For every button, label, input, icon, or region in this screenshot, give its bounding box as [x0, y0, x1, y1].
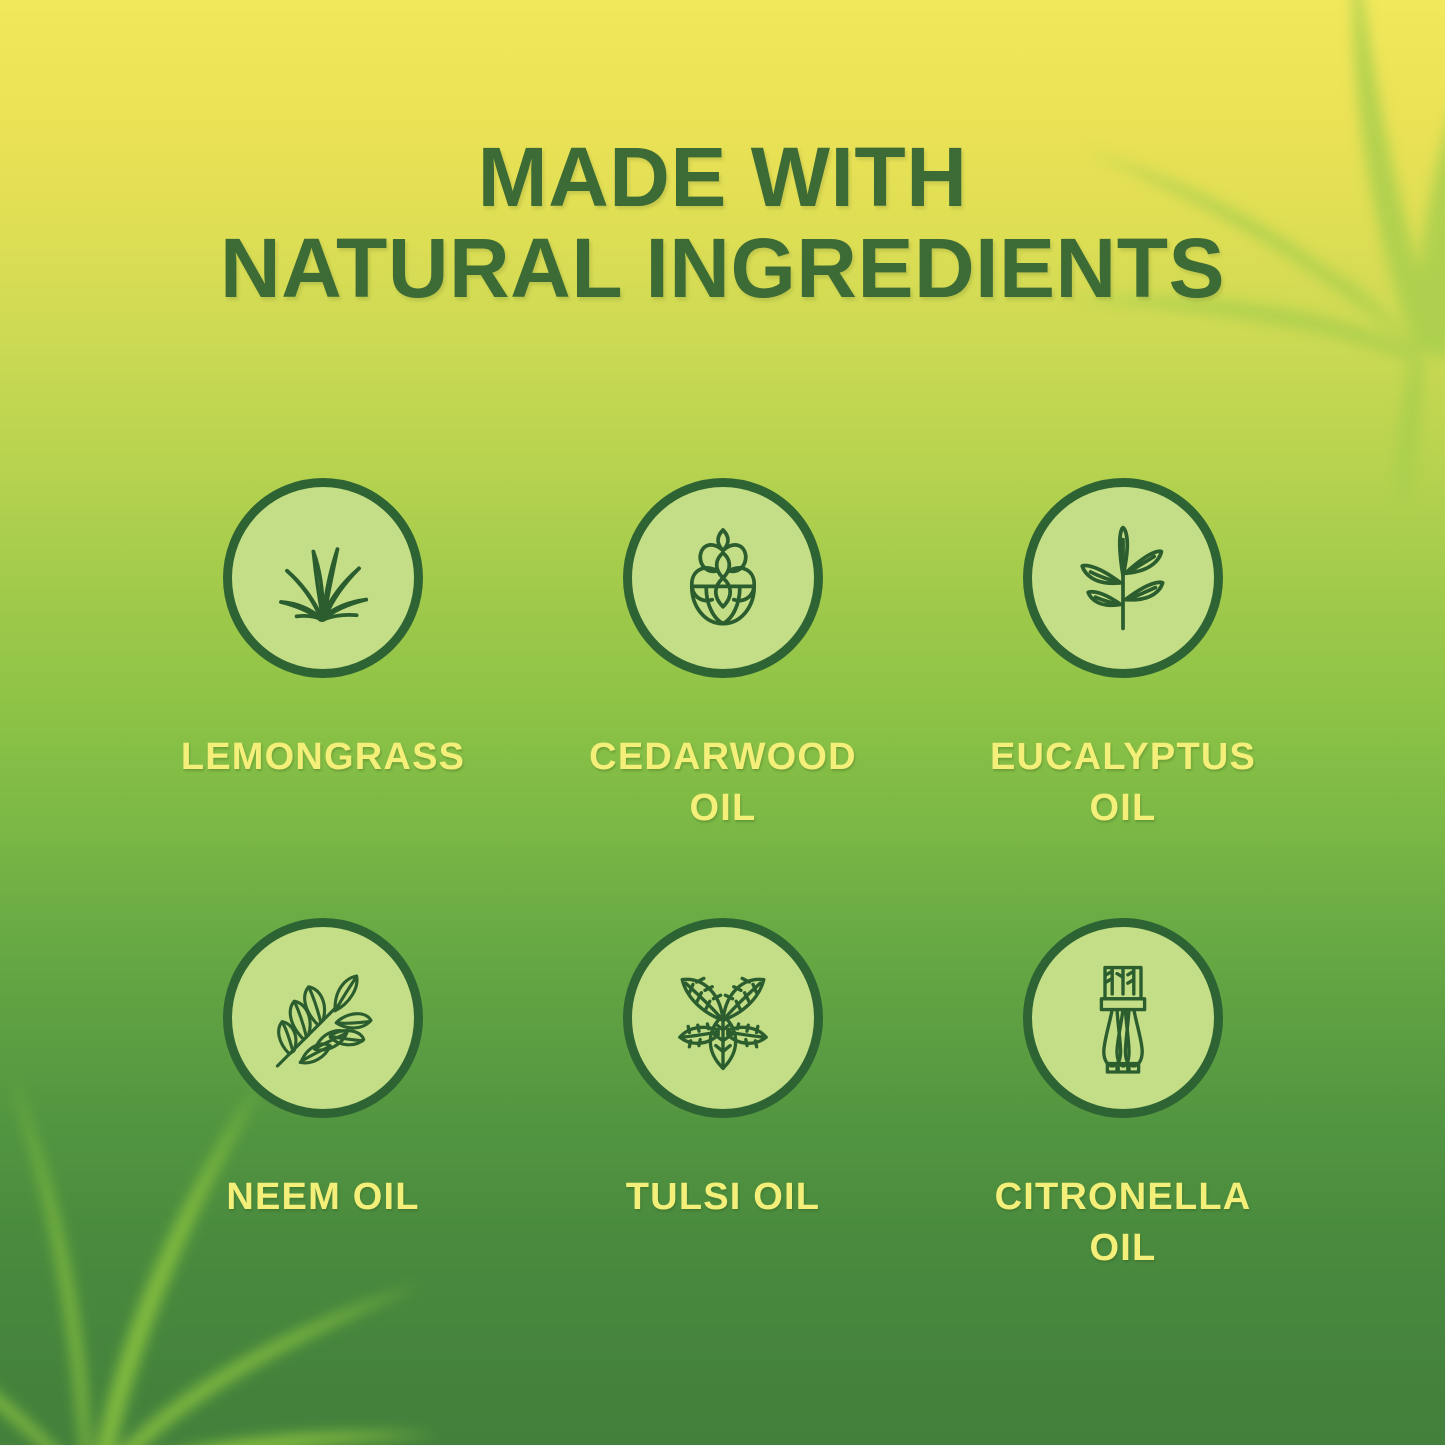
ingredient-label-eucalyptus-oil: EUCALYPTUSOIL	[990, 732, 1256, 835]
ingredients-grid: LEMONGRASS CEDARWOODOIL	[123, 478, 1323, 1358]
ingredient-badge-eucalyptus-oil	[1023, 478, 1223, 678]
lemongrass-icon	[263, 518, 383, 638]
ingredient-item-eucalyptus-oil: EUCALYPTUSOIL	[923, 478, 1323, 918]
page-title-line-1: MADE WITH	[0, 132, 1445, 223]
basil-leaves-icon	[663, 958, 783, 1078]
ingredient-item-neem-oil: NEEM OIL	[123, 918, 523, 1358]
ingredient-item-cedarwood-oil: CEDARWOODOIL	[523, 478, 923, 918]
leafy-branch-icon	[1063, 518, 1183, 638]
ingredient-label-neem-oil: NEEM OIL	[226, 1172, 419, 1223]
ingredient-label-tulsi-oil: TULSI OIL	[626, 1172, 820, 1223]
ingredient-label-citronella-oil: CITRONELLAOIL	[995, 1172, 1252, 1275]
ingredient-item-lemongrass: LEMONGRASS	[123, 478, 523, 918]
compound-leaf-icon	[263, 958, 383, 1078]
ingredient-badge-tulsi-oil	[623, 918, 823, 1118]
ingredient-label-lemongrass: LEMONGRASS	[181, 732, 465, 783]
grass-bundle-icon	[1063, 958, 1183, 1078]
page-title: MADE WITH NATURAL INGREDIENTS	[0, 132, 1445, 313]
ingredient-item-tulsi-oil: TULSI OIL	[523, 918, 923, 1358]
ingredient-item-citronella-oil: CITRONELLAOIL	[923, 918, 1323, 1358]
pinecone-icon	[663, 518, 783, 638]
ingredient-badge-neem-oil	[223, 918, 423, 1118]
made-with-natural-ingredients-poster: MADE WITH NATURAL INGREDIENTS	[0, 0, 1445, 1445]
ingredient-badge-lemongrass	[223, 478, 423, 678]
ingredient-badge-cedarwood-oil	[623, 478, 823, 678]
ingredient-badge-citronella-oil	[1023, 918, 1223, 1118]
page-title-line-2: NATURAL INGREDIENTS	[0, 223, 1445, 314]
ingredient-label-cedarwood-oil: CEDARWOODOIL	[589, 732, 857, 835]
